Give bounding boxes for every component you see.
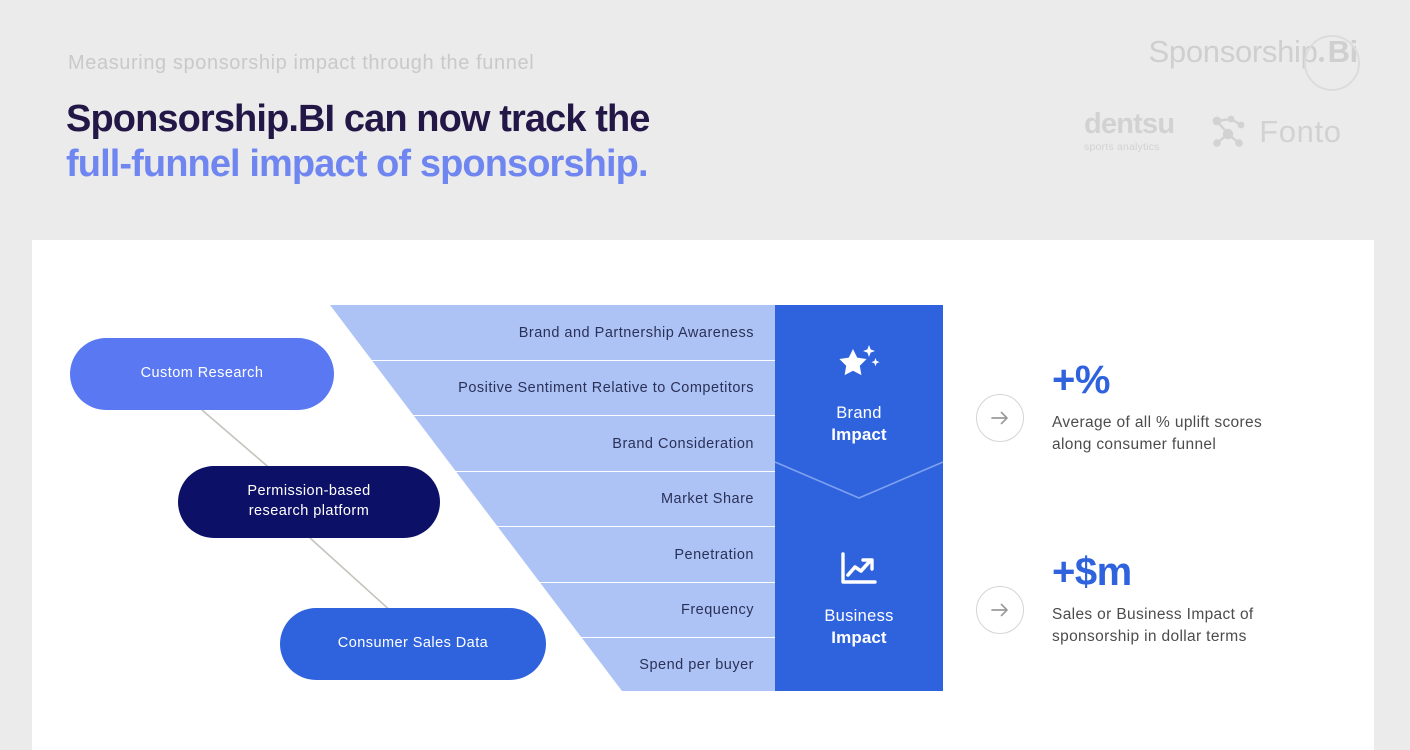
arrow-right-circle-icon bbox=[976, 394, 1024, 442]
dentsu-tagline: sports analytics bbox=[1084, 141, 1174, 153]
business-impact-name: Business bbox=[824, 606, 893, 627]
source-pill-custom-research[interactable]: Custom Research bbox=[70, 338, 334, 410]
sponsorship-bi-logo: Sponsorship Bi bbox=[1149, 34, 1360, 70]
brand-impact-block: Brand Impact bbox=[775, 343, 943, 445]
page-title-line-1: Sponsorship.BI can now track the bbox=[66, 97, 650, 142]
sponsorship-bi-ring-icon bbox=[1304, 35, 1360, 91]
source-pill-consumer-sales-data[interactable]: Consumer Sales Data bbox=[280, 608, 546, 680]
partner-logo-row: dentsu sports analytics Fonto bbox=[1084, 110, 1342, 153]
business-impact-block: Business Impact bbox=[775, 550, 943, 648]
line-chart-icon bbox=[837, 550, 881, 595]
dentsu-wordmark: dentsu bbox=[1084, 110, 1174, 139]
funnel-row: Brand Consideration bbox=[32, 416, 768, 471]
fonto-logo: Fonto bbox=[1208, 112, 1341, 152]
outcome-description: Sales or Business Impact of sponsorship … bbox=[1052, 604, 1254, 648]
outcome-dollar-impact: +$m Sales or Business Impact of sponsors… bbox=[976, 552, 1254, 648]
outcome-body: +$m Sales or Business Impact of sponsors… bbox=[1052, 552, 1254, 648]
fonto-wordmark: Fonto bbox=[1259, 114, 1341, 150]
brand-impact-name: Brand bbox=[836, 403, 882, 424]
outcome-body: +% Average of all % uplift scores along … bbox=[1052, 360, 1262, 456]
funnel-stage-label: Penetration bbox=[32, 547, 768, 563]
outcome-description: Average of all % uplift scores along con… bbox=[1052, 412, 1262, 456]
page-title: Sponsorship.BI can now track the full-fu… bbox=[66, 97, 650, 187]
source-pill-research-platform[interactable]: Permission-based research platform bbox=[178, 466, 440, 538]
business-impact-word: Impact bbox=[831, 627, 886, 648]
funnel-diagram: Brand and Partnership Awareness Positive… bbox=[32, 240, 1374, 750]
sparkle-star-icon bbox=[836, 343, 882, 392]
outcome-metric: +$m bbox=[1052, 552, 1254, 592]
eyebrow-text: Measuring sponsorship impact through the… bbox=[68, 52, 534, 75]
dentsu-logo: dentsu sports analytics bbox=[1084, 110, 1174, 153]
impact-column: Brand Impact Business Impact bbox=[775, 305, 943, 691]
outcome-uplift-percent: +% Average of all % uplift scores along … bbox=[976, 360, 1262, 456]
page-header: Measuring sponsorship impact through the… bbox=[0, 0, 1410, 240]
sponsorship-bi-wordmark: Sponsorship bbox=[1149, 34, 1318, 70]
logo-block: Sponsorship Bi dentsu sports analytics bbox=[1062, 34, 1362, 164]
brand-impact-word: Impact bbox=[831, 424, 886, 445]
fonto-node-icon bbox=[1208, 112, 1248, 152]
funnel-stage-label: Brand Consideration bbox=[32, 436, 768, 452]
arrow-right-circle-icon bbox=[976, 586, 1024, 634]
diagram-card: Brand and Partnership Awareness Positive… bbox=[32, 240, 1374, 750]
page-title-line-2: full-funnel impact of sponsorship. bbox=[66, 142, 650, 187]
outcome-metric: +% bbox=[1052, 360, 1262, 400]
